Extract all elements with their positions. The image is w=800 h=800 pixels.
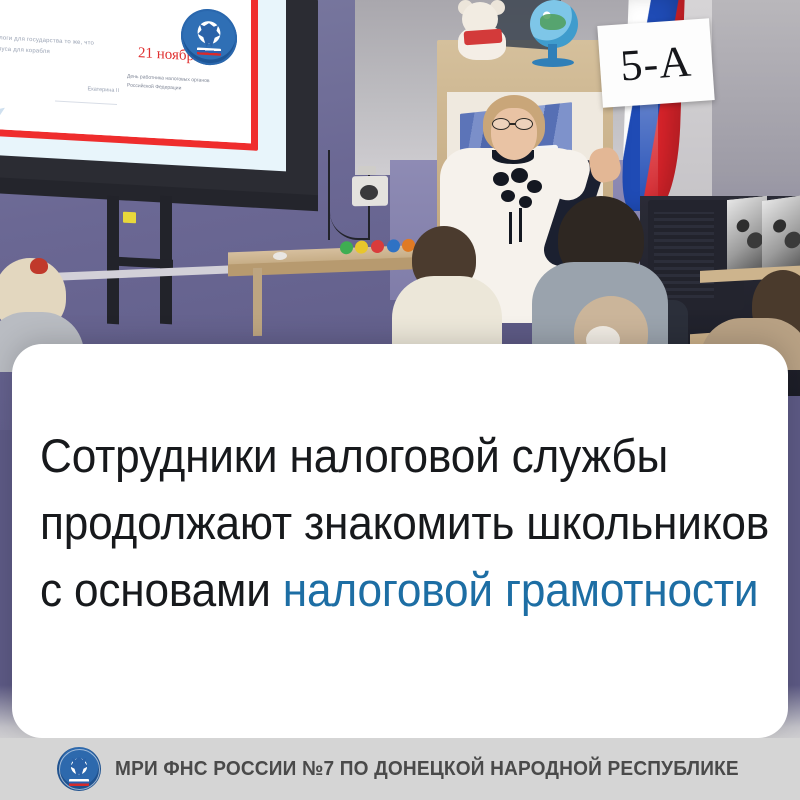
interactive-whiteboard-screen: Налоги для государства то же, что паруса… (0, 0, 286, 171)
fns-logo-icon (57, 747, 101, 791)
teddy-bear-scarf (464, 29, 503, 46)
headline-line-1: Сотрудники налоговой службы (40, 422, 722, 489)
class-sign-label: 5-А (598, 34, 713, 93)
colored-buttons (340, 239, 416, 256)
globe-icon (530, 0, 578, 48)
slide-inner: Налоги для государства то же, что паруса… (0, 0, 251, 143)
headline-line-3-plain: с основами (40, 563, 283, 616)
tricolor-flag-icon (69, 779, 89, 786)
headline-card: Сотрудники налоговой службы продолжают з… (12, 344, 788, 738)
footer-bar: МРИ ФНС РОССИИ №7 ПО ДОНЕЦКОЙ НАРОДНОЙ Р… (0, 738, 800, 800)
footer-organization-name: МРИ ФНС РОССИИ №7 ПО ДОНЕЦКОЙ НАРОДНОЙ Р… (115, 757, 739, 781)
slide-quote: Налоги для государства то же, что паруса… (0, 33, 116, 63)
poster-root: Налоги для государства то же, что паруса… (0, 0, 800, 800)
bw-poster (727, 196, 767, 272)
class-sign: 5-А (597, 18, 714, 108)
cable (300, 150, 330, 240)
paper-plane-icon (0, 107, 5, 122)
desk-leg (253, 268, 262, 336)
socket-plate (358, 166, 376, 175)
power-socket (352, 176, 388, 207)
headline-accent: налоговой грамотности (283, 563, 759, 616)
hair-clip (30, 258, 48, 274)
whiteboard-tag (123, 212, 136, 224)
slide-quote-source: Екатерина II (49, 84, 119, 94)
globe-base (532, 58, 574, 67)
glasses-icon (492, 118, 538, 130)
slide-divider (55, 100, 117, 104)
headline-text: Сотрудники налоговой службы продолжают з… (40, 422, 722, 623)
headline-line-3: с основами налоговой грамотности (40, 556, 722, 623)
teacher-face (491, 108, 537, 160)
headline-line-2: продолжают знакомить школьников (40, 489, 722, 556)
presentation-slide: Налоги для государства то же, что паруса… (0, 0, 258, 151)
slide-subtitle: День работника налоговых органов Российс… (127, 72, 237, 96)
blouse-pattern (489, 168, 545, 244)
bw-poster (762, 195, 800, 273)
